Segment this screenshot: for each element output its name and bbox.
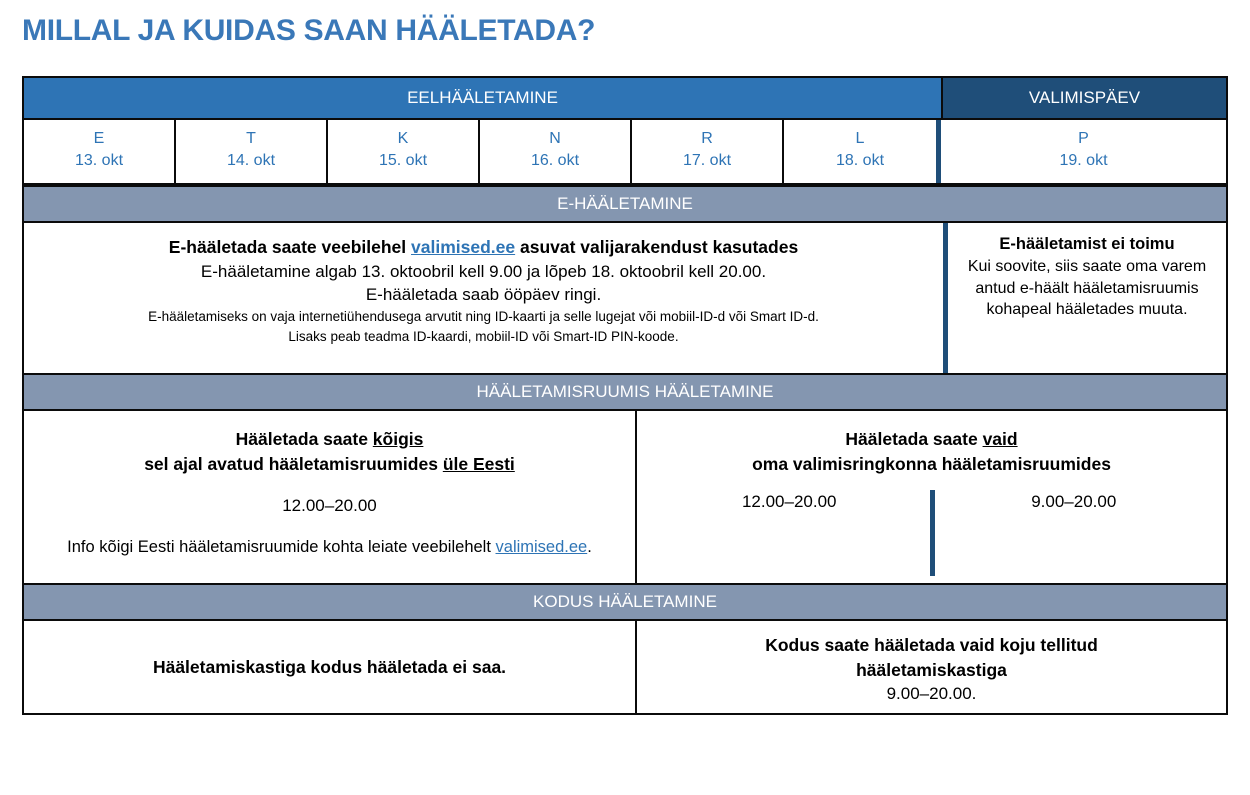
date-dow: K: [328, 128, 478, 150]
date-cell-sunday: P 19. okt: [936, 120, 1226, 183]
date-value: 14. okt: [176, 150, 326, 172]
polling-left-headline-prefix: Hääletada saate: [236, 429, 373, 449]
voting-schedule-table: EELHÄÄLETAMINE VALIMISPÄEV E 13. okt T 1…: [22, 76, 1228, 715]
home-voting-line1: Kodus saate hääletada vaid koju tellitud: [657, 633, 1206, 658]
e-voting-headline-suffix: asuvat valijarakendust kasutades: [515, 237, 798, 257]
polling-right-hours-election-day: 9.00–20.00: [932, 490, 1217, 512]
section-header-e-voting: E-HÄÄLETAMINE: [24, 185, 1226, 223]
e-voting-not-available-headline: E-hääletamist ei toimu: [960, 233, 1214, 256]
home-voting-row: Hääletamiskastiga kodus hääletada ei saa…: [24, 621, 1226, 713]
banner-row: EELHÄÄLETAMINE VALIMISPÄEV: [24, 78, 1226, 120]
home-voting-advance-cell: Hääletamiskastiga kodus hääletada ei saa…: [24, 621, 637, 713]
date-cell-saturday: L 18. okt: [784, 120, 936, 183]
home-voting-line2: hääletamiskastiga: [657, 658, 1206, 683]
date-dow: T: [176, 128, 326, 150]
e-voting-row: E-hääletada saate veebilehel valimised.e…: [24, 223, 1226, 373]
polling-right-headline-prefix: Hääletada saate: [845, 429, 982, 449]
date-dow: P: [941, 128, 1226, 150]
date-dow: L: [784, 128, 936, 150]
polling-station-district-cell: Hääletada saate vaid oma valimisringkonn…: [637, 411, 1226, 583]
banner-election-day: VALIMISPÄEV: [943, 78, 1226, 118]
polling-left-note-prefix: Info kõigi Eesti hääletamisruumide kohta…: [67, 538, 495, 556]
date-cell-friday: R 17. okt: [632, 120, 784, 183]
polling-left-emphasis-ule-eesti: üle Eesti: [443, 454, 515, 474]
voting-info-infographic: MILLAL JA KUIDAS SAAN HÄÄLETADA? EELHÄÄL…: [0, 0, 1250, 795]
polling-left-headline-line1: Hääletada saate kõigis: [44, 427, 615, 452]
banner-advance-voting: EELHÄÄLETAMINE: [24, 78, 943, 118]
e-voting-election-day-cell: E-hääletamist ei toimu Kui soovite, siis…: [943, 223, 1226, 373]
e-voting-requirements: E-hääletamiseks on vaja internetiühendus…: [40, 307, 927, 327]
date-dow: R: [632, 128, 782, 150]
home-voting-not-available: Hääletamiskastiga kodus hääletada ei saa…: [153, 655, 506, 680]
polling-left-headline-line2: sel ajal avatud hääletamisruumides üle E…: [44, 452, 615, 477]
date-value: 15. okt: [328, 150, 478, 172]
e-voting-change-vote-note: Kui soovite, siis saate oma varem antud …: [960, 256, 1214, 321]
polling-right-hours-group: 12.00–20.00 9.00–20.00: [647, 490, 1216, 586]
e-voting-period: E-hääletamine algab 13. oktoobril kell 9…: [40, 260, 927, 284]
vertical-divider: [930, 490, 935, 576]
polling-right-hours-advance: 12.00–20.00: [647, 490, 932, 512]
date-dow: N: [480, 128, 630, 150]
e-voting-availability: E-hääletada saab ööpäev ringi.: [40, 283, 927, 307]
polling-right-headline-line1: Hääletada saate vaid: [647, 427, 1216, 452]
polling-left-note: Info kõigi Eesti hääletamisruumide kohta…: [44, 518, 615, 560]
e-voting-pin-note: Lisaks peab teadma ID-kaardi, mobiil-ID …: [40, 327, 927, 347]
date-cell-wednesday: K 15. okt: [328, 120, 480, 183]
polling-station-advance-cell: Hääletada saate kõigis sel ajal avatud h…: [24, 411, 637, 583]
date-value: 13. okt: [24, 150, 174, 172]
date-dow: E: [24, 128, 174, 150]
date-value: 18. okt: [784, 150, 936, 172]
polling-right-headline-line2: oma valimisringkonna hääletamisruumides: [647, 452, 1216, 477]
e-voting-headline: E-hääletada saate veebilehel valimised.e…: [40, 235, 927, 260]
page-title: MILLAL JA KUIDAS SAAN HÄÄLETADA?: [22, 14, 595, 48]
polling-left-note-suffix: .: [587, 538, 592, 556]
section-header-home-voting: KODUS HÄÄLETAMINE: [24, 583, 1226, 621]
home-voting-hours: 9.00–20.00.: [657, 682, 1206, 706]
polling-right-emphasis-vaid: vaid: [983, 429, 1018, 449]
polling-left-hours: 12.00–20.00: [44, 494, 615, 518]
date-value: 19. okt: [941, 150, 1226, 172]
home-voting-election-day-cell: Kodus saate hääletada vaid koju tellitud…: [637, 621, 1226, 713]
polling-left-headline-line2-prefix: sel ajal avatud hääletamisruumides: [144, 454, 443, 474]
dates-row: E 13. okt T 14. okt K 15. okt N 16. okt …: [24, 120, 1226, 185]
date-cell-tuesday: T 14. okt: [176, 120, 328, 183]
polling-station-row: Hääletada saate kõigis sel ajal avatud h…: [24, 411, 1226, 583]
date-cell-monday: E 13. okt: [24, 120, 176, 183]
e-voting-headline-prefix: E-hääletada saate veebilehel: [169, 237, 411, 257]
date-cell-thursday: N 16. okt: [480, 120, 632, 183]
valimised-ee-link[interactable]: valimised.ee: [411, 237, 515, 257]
valimised-ee-link-2[interactable]: valimised.ee: [496, 538, 588, 556]
date-value: 16. okt: [480, 150, 630, 172]
section-header-polling-station: HÄÄLETAMISRUUMIS HÄÄLETAMINE: [24, 373, 1226, 411]
e-voting-main-cell: E-hääletada saate veebilehel valimised.e…: [24, 223, 943, 373]
date-value: 17. okt: [632, 150, 782, 172]
polling-left-emphasis-koigis: kõigis: [373, 429, 424, 449]
